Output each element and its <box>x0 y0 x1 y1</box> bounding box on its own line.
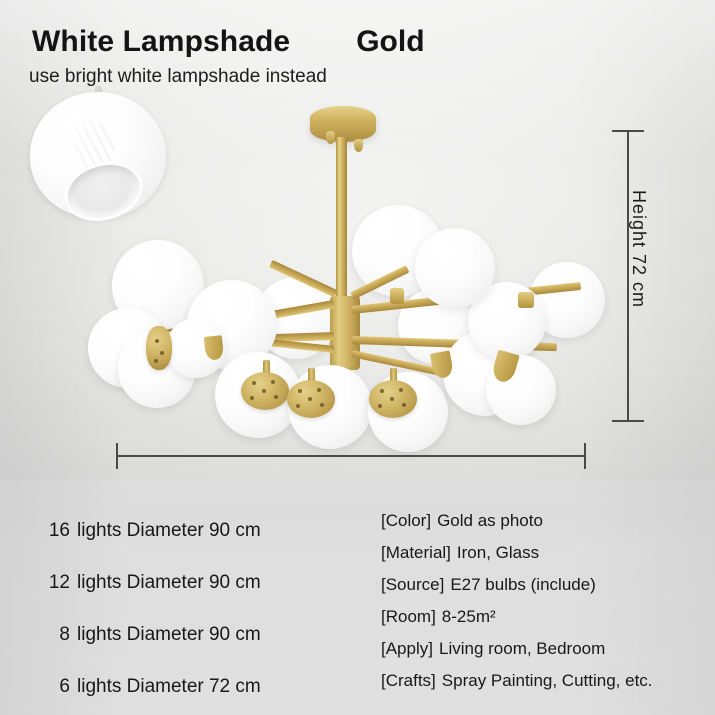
spec-value: Living room, Bedroom <box>439 639 605 659</box>
screw-hole <box>155 339 159 343</box>
diameter-dimension-cap-right <box>584 443 586 469</box>
drop-rod <box>336 137 347 312</box>
height-dimension-cap-bottom <box>612 420 644 422</box>
diameter-dimension-cap-left <box>116 443 118 469</box>
spec-row-room: [Room] 8-25m² <box>381 601 711 633</box>
socket-plate-2 <box>287 380 335 418</box>
chandelier-product <box>0 0 715 480</box>
size-option-row: 16 lights Diameter 90 cm <box>40 505 360 557</box>
screw-hole <box>252 381 256 385</box>
socket-cap-top <box>390 288 404 304</box>
screw-hole <box>274 395 278 399</box>
size-option-count: 6 <box>40 676 70 698</box>
socket-plate-3 <box>369 380 417 418</box>
size-option-row: 8 lights Diameter 90 cm <box>40 609 360 661</box>
screw-hole <box>320 403 324 407</box>
spec-key: [Apply] <box>381 639 433 659</box>
screw-hole <box>154 359 158 363</box>
screw-hole <box>402 403 406 407</box>
spec-row-crafts: [Crafts] Spray Painting, Cutting, etc. <box>381 665 711 697</box>
size-option-label: lights Diameter 90 cm <box>77 572 261 594</box>
size-option-count: 8 <box>40 624 70 646</box>
product-image-canvas: White Lampshade Gold use bright white la… <box>0 0 715 715</box>
spec-key: [Room] <box>381 607 436 627</box>
screw-hole <box>262 389 266 393</box>
screw-hole <box>298 389 302 393</box>
size-option-row: 6 lights Diameter 72 cm <box>40 661 360 713</box>
spec-row-apply: [Apply] Living room, Bedroom <box>381 633 711 665</box>
spec-key: [Material] <box>381 543 451 563</box>
socket-plate-left-edge <box>146 326 172 370</box>
size-option-row: 12 lights Diameter 90 cm <box>40 557 360 609</box>
spec-key: [Color] <box>381 511 431 531</box>
globe-top-right <box>415 228 495 308</box>
screw-hole <box>378 404 382 408</box>
size-option-count: 16 <box>40 520 70 542</box>
screw-hole <box>296 404 300 408</box>
spec-row-source: [Source] E27 bulbs (include) <box>381 569 711 601</box>
spec-value: E27 bulbs (include) <box>450 575 596 595</box>
screw-hole <box>399 388 403 392</box>
size-option-count: 12 <box>40 572 70 594</box>
spec-value: Gold as photo <box>437 511 543 531</box>
spec-row-material: [Material] Iron, Glass <box>381 537 711 569</box>
screw-hole <box>308 397 312 401</box>
spec-key: [Crafts] <box>381 671 436 691</box>
canopy-screw-left <box>326 131 335 144</box>
canopy-screw-right <box>354 139 363 152</box>
screw-hole <box>250 396 254 400</box>
size-options-list: 16 lights Diameter 90 cm 12 lights Diame… <box>40 505 360 713</box>
screw-hole <box>380 389 384 393</box>
height-dimension-label: Height 72 cm <box>628 190 649 308</box>
size-option-label: lights Diameter 90 cm <box>77 520 261 542</box>
spec-value: Iron, Glass <box>457 543 539 563</box>
product-spec-list: [Color] Gold as photo [Material] Iron, G… <box>381 505 711 697</box>
screw-hole <box>390 397 394 401</box>
size-option-label: lights Diameter 72 cm <box>77 676 261 698</box>
size-option-label: lights Diameter 90 cm <box>77 624 261 646</box>
screw-hole <box>317 388 321 392</box>
diameter-dimension-line <box>116 455 586 457</box>
socket-cap-far-right <box>518 292 534 308</box>
height-dimension-cap-top <box>612 130 644 132</box>
screw-hole <box>160 351 164 355</box>
spec-value: Spray Painting, Cutting, etc. <box>442 671 653 691</box>
spec-row-color: [Color] Gold as photo <box>381 505 711 537</box>
socket-plate-1 <box>241 372 289 410</box>
screw-hole <box>271 380 275 384</box>
spec-key: [Source] <box>381 575 444 595</box>
spec-value: 8-25m² <box>442 607 496 627</box>
